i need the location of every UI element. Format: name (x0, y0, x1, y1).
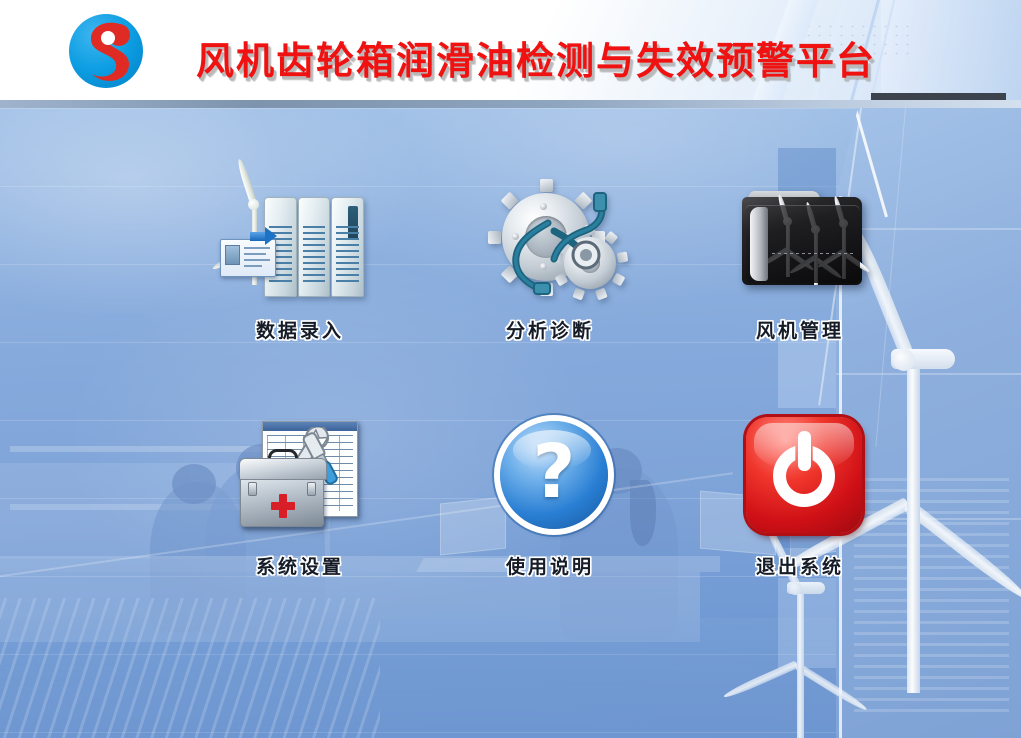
menu-label-user-manual: 使用说明 (506, 552, 594, 579)
server-turbine-card-icon (220, 173, 380, 308)
gears-stethoscope-icon (470, 173, 630, 308)
toolbox-icon (240, 469, 324, 527)
menu-item-user-manual[interactable]: ? 使用说明 (425, 413, 675, 643)
menu-label-analysis: 分析诊断 (506, 316, 594, 343)
page-title: 风机齿轮箱润滑油检测与失效预警平台 (196, 30, 876, 85)
menu-label-data-entry: 数据录入 (256, 316, 344, 343)
menu-item-analysis[interactable]: 分析诊断 (425, 173, 675, 413)
app-header: 风机齿轮箱润滑油检测与失效预警平台 (0, 0, 1021, 100)
folder-windfarm-icon (720, 173, 880, 308)
main-menu-grid: 数据录入 (0, 108, 1021, 738)
menu-label-exit-system: 退出系统 (756, 552, 844, 579)
menu-label-system-settings: 系统设置 (256, 552, 344, 579)
power-button-icon (720, 413, 880, 548)
question-glyph: ? (533, 435, 576, 509)
header-divider-bar (0, 100, 1021, 108)
toolbox-spreadsheet-icon (220, 413, 380, 548)
header-dark-accent-bar (871, 93, 1006, 100)
red-cross-icon (271, 494, 295, 518)
menu-item-system-settings[interactable]: 系统设置 (175, 413, 425, 643)
menu-item-data-entry[interactable]: 数据录入 (175, 173, 425, 413)
application-window: 风机齿轮箱润滑油检测与失效预警平台 (0, 0, 1021, 738)
menu-item-turbine-manage[interactable]: 风机管理 (675, 173, 925, 413)
company-logo[interactable] (62, 12, 154, 90)
folder-spine (750, 207, 768, 281)
menu-label-turbine-manage: 风机管理 (756, 316, 844, 343)
folder-stitch-line (772, 253, 856, 254)
menu-item-exit-system[interactable]: 退出系统 (675, 413, 925, 643)
question-mark-icon: ? (470, 413, 630, 548)
stethoscope-icon (488, 179, 618, 305)
server-rack-icon (264, 197, 364, 297)
